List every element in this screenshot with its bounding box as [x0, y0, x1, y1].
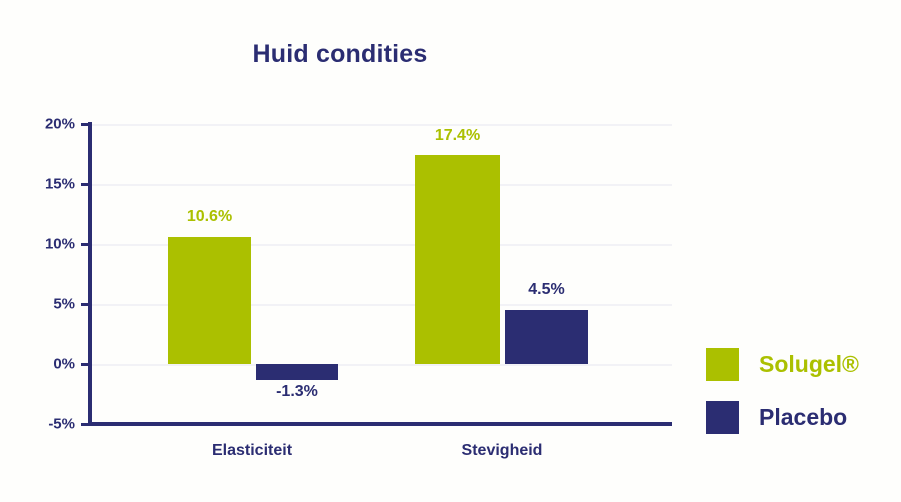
legend-item-solugel[interactable]: Solugel® [706, 348, 859, 381]
legend-item-placebo[interactable]: Placebo [706, 401, 859, 434]
x-axis-category-label-elasticiteit: Elasticiteit [168, 442, 336, 460]
bar-solugel-elasticiteit[interactable] [168, 237, 251, 364]
legend-swatch-placebo-icon [706, 401, 739, 434]
bar-placebo-elasticiteit[interactable] [256, 364, 338, 380]
gridline [92, 184, 672, 186]
bar-placebo-stevigheid[interactable] [505, 310, 588, 364]
legend-label-solugel: Solugel® [759, 351, 859, 378]
x-axis-category-label-stevigheid: Stevigheid [415, 442, 589, 460]
bar-value-label-placebo-elasticiteit: -1.3% [256, 383, 338, 401]
plot-area: 10.6% -1.3% 17.4% 4.5% [92, 124, 672, 424]
bar-value-label-solugel-stevigheid: 17.4% [415, 127, 500, 145]
legend-swatch-solugel-icon [706, 348, 739, 381]
y-tick-label: 5% [11, 296, 75, 313]
bar-value-label-placebo-stevigheid: 4.5% [505, 281, 588, 299]
y-tick-label: -5% [11, 416, 75, 433]
chart-container: Huid condities 20% 15% 10% 5% 0% -5% 10. [0, 0, 901, 502]
bar-value-label-solugel-elasticiteit: 10.6% [168, 208, 251, 226]
gridline [92, 124, 672, 126]
gridline [92, 364, 672, 366]
y-axis-tick-labels: 20% 15% 10% 5% 0% -5% [0, 0, 75, 502]
chart-legend: Solugel® Placebo [706, 348, 859, 454]
chart-title: Huid condities [0, 40, 680, 69]
bar-solugel-stevigheid[interactable] [415, 155, 500, 364]
y-tick-label: 15% [11, 176, 75, 193]
y-tick-label: 0% [11, 356, 75, 373]
y-tick-label: 20% [11, 116, 75, 133]
legend-label-placebo: Placebo [759, 404, 847, 431]
y-tick-label: 10% [11, 236, 75, 253]
